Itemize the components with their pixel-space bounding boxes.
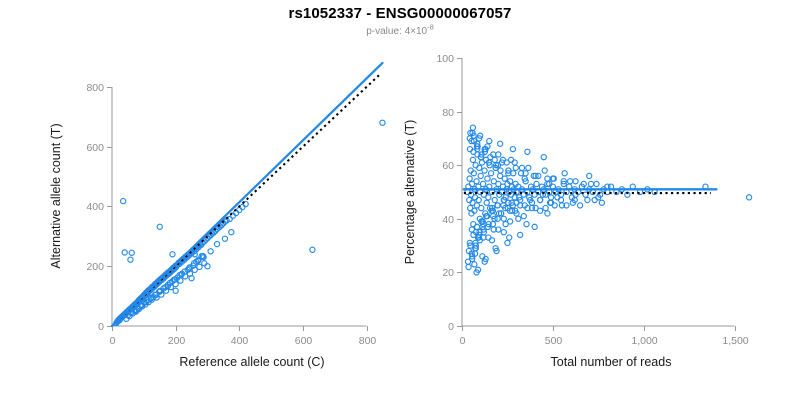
data-point [538, 197, 543, 202]
data-point [562, 171, 567, 176]
data-point [229, 230, 234, 235]
y-axis-title: Percentage alternative (T) [403, 120, 417, 265]
x-axis-tick-label: 0 [110, 335, 116, 347]
x-axis-tick-label: 800 [359, 335, 377, 347]
data-point [157, 224, 162, 229]
data-point [555, 195, 560, 200]
data-point [521, 214, 526, 219]
data-point [469, 227, 474, 232]
y-axis-title: Alternative allele count (T) [49, 123, 63, 268]
data-point [122, 250, 127, 255]
data-point [467, 176, 472, 181]
data-point [488, 171, 493, 176]
data-point [240, 204, 245, 209]
x-axis-tick-label: 200 [168, 335, 186, 347]
scatter-plot-allele-counts: 02004006008000200400600800Reference alle… [0, 42, 400, 400]
data-point [466, 264, 471, 269]
data-point [501, 216, 506, 221]
data-point [482, 168, 487, 173]
data-point [178, 278, 183, 283]
pvalue-prefix: p-value: 4 [366, 26, 410, 37]
x-axis-tick-label: 1,000 [631, 335, 657, 347]
y-axis-tick-label: 40 [442, 214, 454, 226]
data-point [202, 261, 207, 266]
scatter-plot-percentage: 02040608010005001,0001,500Total number o… [400, 42, 800, 400]
chart-panel-percentage: 02040608010005001,0001,500Total number o… [400, 42, 800, 400]
data-point [503, 222, 508, 227]
pvalue-base: 10 [416, 26, 427, 37]
data-point [532, 224, 537, 229]
data-point [498, 168, 503, 173]
chart-panel-allele-counts: 02004006008000200400600800Reference alle… [0, 42, 400, 400]
y-axis-tick-label: 600 [86, 142, 104, 154]
data-point [513, 165, 518, 170]
data-point [498, 141, 503, 146]
fit-line [112, 63, 382, 326]
data-point [585, 197, 590, 202]
page-title: rs1052337 - ENSG00000067057 [0, 5, 800, 22]
y-axis-tick-label: 0 [448, 321, 454, 333]
data-point [594, 181, 599, 186]
data-point [501, 230, 506, 235]
data-point [508, 157, 513, 162]
data-point [496, 152, 501, 157]
data-point [505, 240, 510, 245]
data-point [587, 173, 592, 178]
x-axis-tick-label: 1,500 [722, 335, 748, 347]
x-axis-title: Total number of reads [551, 355, 672, 369]
data-point [465, 259, 470, 264]
data-point [128, 257, 133, 262]
data-point [525, 149, 530, 154]
data-point [541, 155, 546, 160]
data-point [578, 203, 583, 208]
y-axis-tick-label: 0 [98, 321, 104, 333]
data-point [197, 264, 202, 269]
data-point [473, 163, 478, 168]
data-point [518, 232, 523, 237]
x-axis-tick-label: 0 [460, 335, 466, 347]
data-point [205, 264, 210, 269]
data-point [747, 195, 752, 200]
data-point [542, 168, 547, 173]
data-point [208, 249, 213, 254]
data-point [519, 165, 524, 170]
data-point [310, 247, 315, 252]
data-point [538, 208, 543, 213]
data-point [489, 238, 494, 243]
data-point [507, 235, 512, 240]
data-point [479, 205, 484, 210]
data-point [599, 200, 604, 205]
y-axis-tick-label: 20 [442, 267, 454, 279]
data-point [121, 198, 126, 203]
data-point [568, 179, 573, 184]
data-point [474, 179, 479, 184]
x-axis-title: Reference allele count (C) [179, 355, 324, 369]
data-point [170, 252, 175, 257]
data-point [548, 195, 553, 200]
data-point [237, 207, 242, 212]
data-point [472, 195, 477, 200]
pvalue-exponent: -8 [427, 23, 434, 32]
data-point [214, 242, 219, 247]
y-axis-tick-label: 400 [86, 201, 104, 213]
data-point [510, 147, 515, 152]
data-point [472, 262, 477, 267]
data-point [545, 211, 550, 216]
data-point [173, 288, 178, 293]
y-axis-tick-label: 100 [436, 53, 454, 65]
data-point [502, 176, 507, 181]
data-point [478, 173, 483, 178]
data-point [592, 197, 597, 202]
data-points-group [114, 120, 385, 325]
data-point [512, 160, 517, 165]
data-point [480, 181, 485, 186]
data-point [573, 179, 578, 184]
data-point [534, 181, 539, 186]
data-point [588, 181, 593, 186]
data-point [477, 165, 482, 170]
data-point [524, 222, 529, 227]
data-point [470, 157, 475, 162]
y-axis-tick-label: 800 [86, 82, 104, 94]
x-axis-tick-label: 400 [231, 335, 249, 347]
data-point [222, 236, 227, 241]
y-axis-tick-label: 60 [442, 160, 454, 172]
data-point [470, 125, 475, 130]
data-point [545, 176, 550, 181]
data-point [543, 205, 548, 210]
y-axis-tick-label: 200 [86, 261, 104, 273]
data-point [558, 197, 563, 202]
x-axis-tick-label: 500 [545, 335, 563, 347]
data-point [516, 216, 521, 221]
data-point [476, 197, 481, 202]
data-point [484, 200, 489, 205]
data-point [486, 195, 491, 200]
data-point [380, 120, 385, 125]
x-axis-tick-label: 600 [295, 335, 313, 347]
data-point [526, 165, 531, 170]
data-point [474, 224, 479, 229]
y-axis-tick-label: 80 [442, 107, 454, 119]
figure-root: rs1052337 - ENSG00000067057 p-value: 4×1… [0, 0, 800, 400]
pvalue-subtitle: p-value: 4×10-8 [0, 26, 800, 37]
data-points-group [465, 125, 752, 275]
data-point [487, 138, 492, 143]
data-point [492, 197, 497, 202]
data-point [485, 176, 490, 181]
data-point [129, 250, 134, 255]
